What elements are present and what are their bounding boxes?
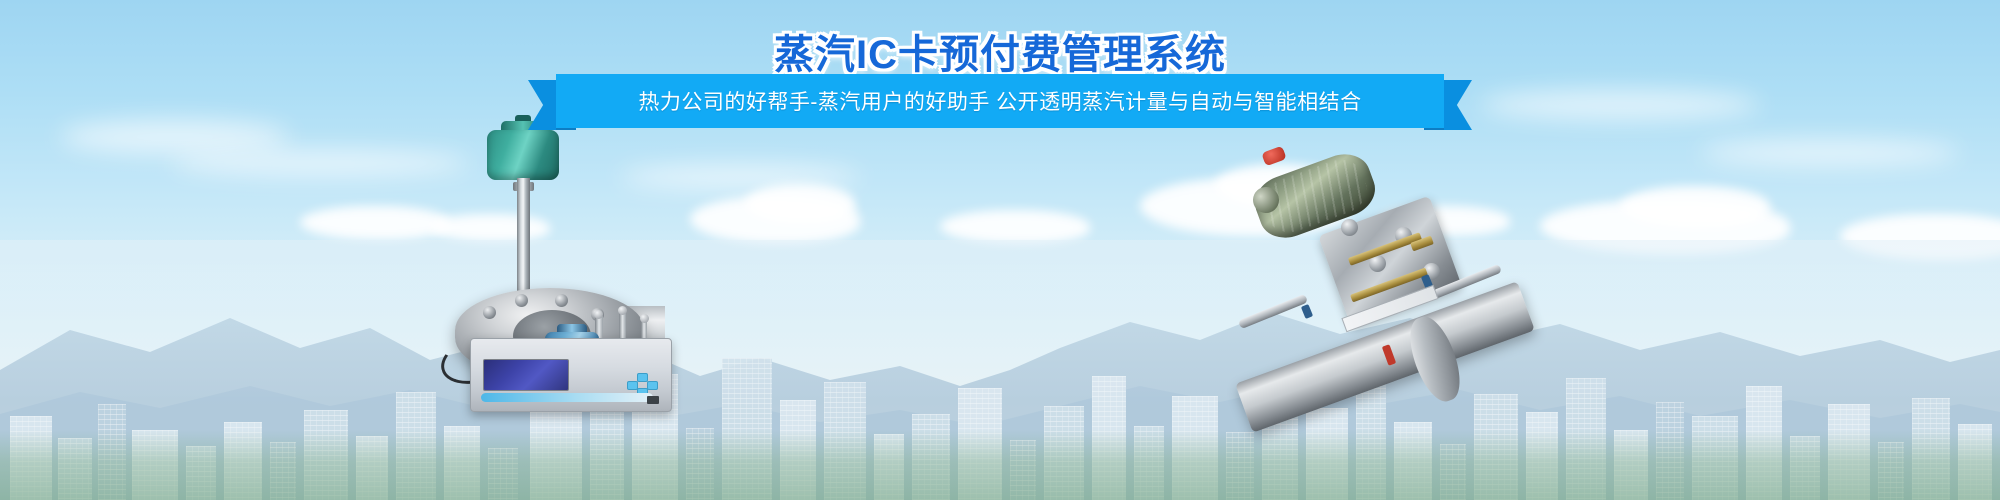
controller-lcd-screen — [483, 359, 569, 391]
page-title: 蒸汽IC卡预付费管理系统 — [774, 22, 1226, 80]
flowmeter-head — [487, 130, 559, 180]
controller-body — [470, 338, 672, 412]
keypad-up-key[interactable] — [637, 373, 648, 382]
steam-ic-card-banner: 蒸汽IC卡预付费管理系统 热力公司的好帮手-蒸汽用户的好助手 公开透明蒸汽计量与… — [0, 0, 2000, 500]
city-skyline — [0, 240, 2000, 500]
manifold-left-handle[interactable] — [1238, 294, 1308, 329]
ribbon-body: 热力公司的好帮手-蒸汽用户的好助手 公开透明蒸汽计量与自动与智能相结合 — [556, 74, 1444, 128]
banner-subtitle: 热力公司的好帮手-蒸汽用户的好助手 公开透明蒸汽计量与自动与智能相结合 — [638, 86, 1361, 116]
flowmeter-neck — [517, 178, 530, 296]
controller-brand-text — [659, 357, 661, 363]
banner-title-wrap: 蒸汽IC卡预付费管理系统 — [0, 22, 2000, 80]
ic-card-slot[interactable] — [647, 396, 659, 404]
controller-accent-stripe — [481, 393, 653, 402]
keypad-right-key[interactable] — [647, 381, 658, 390]
ic-card-controller — [470, 330, 670, 410]
transmitter-red-vent-icon — [1261, 146, 1286, 167]
differential-pressure-transmitter — [1245, 135, 1555, 395]
controller-keypad — [627, 373, 657, 395]
subtitle-ribbon: 热力公司的好帮手-蒸汽用户的好助手 公开透明蒸汽计量与自动与智能相结合 — [0, 74, 2000, 136]
